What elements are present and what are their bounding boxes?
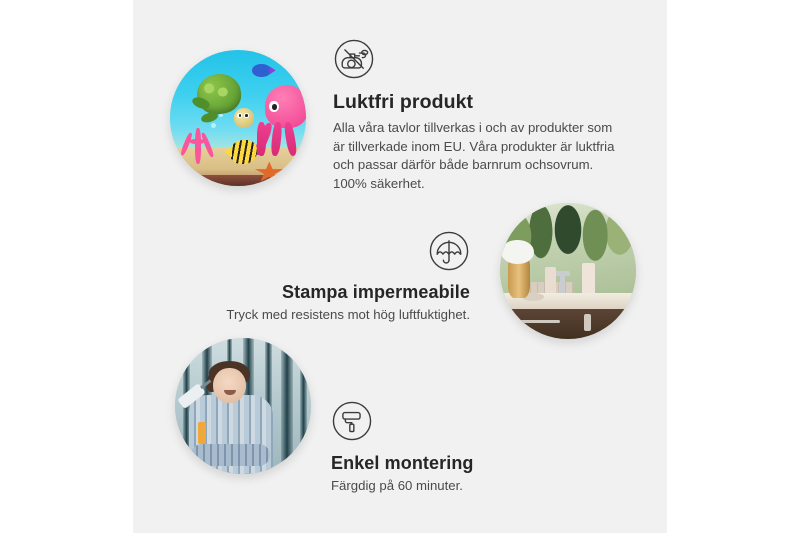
face xyxy=(213,368,246,403)
hand-tool-icon xyxy=(198,422,206,444)
feature-body: Färgdig på 60 minuter. xyxy=(331,477,591,495)
underwater-scene xyxy=(170,50,306,186)
feature-title: Enkel montering xyxy=(331,452,591,474)
photo-underwater xyxy=(170,50,306,186)
photo-painter xyxy=(175,338,311,474)
small-fish-icon xyxy=(252,64,271,78)
umbrella-icon xyxy=(428,230,470,272)
feature-body: Tryck med resistens mot hög luftfuktighe… xyxy=(220,306,470,324)
feature-body: Alla våra tavlor tillverkas i och av pro… xyxy=(333,119,623,193)
flowers-icon xyxy=(501,240,534,264)
crossed-arms xyxy=(191,444,270,466)
turtle-icon xyxy=(192,74,252,128)
photo-bathroom xyxy=(500,203,636,339)
octopus-icon xyxy=(257,85,306,156)
bathroom-scene xyxy=(500,203,636,339)
no-fragrance-bottle-icon xyxy=(333,38,375,80)
vanity-cabinet xyxy=(500,309,636,339)
feature-waterproof: Stampa impermeabile Tryck med resistens … xyxy=(220,230,470,324)
paint-roller-icon xyxy=(331,400,373,442)
feature-odourless: Luktfri produkt Alla våra tavlor tillver… xyxy=(333,38,623,193)
product-feature-banner: Luktfri produkt Alla våra tavlor tillver… xyxy=(0,0,800,533)
feature-mounting: Enkel montering Färgdig på 60 minuter. xyxy=(331,400,591,495)
painter-scene xyxy=(175,338,311,474)
feature-title: Luktfri produkt xyxy=(333,90,623,114)
feature-title: Stampa impermeabile xyxy=(220,281,470,303)
